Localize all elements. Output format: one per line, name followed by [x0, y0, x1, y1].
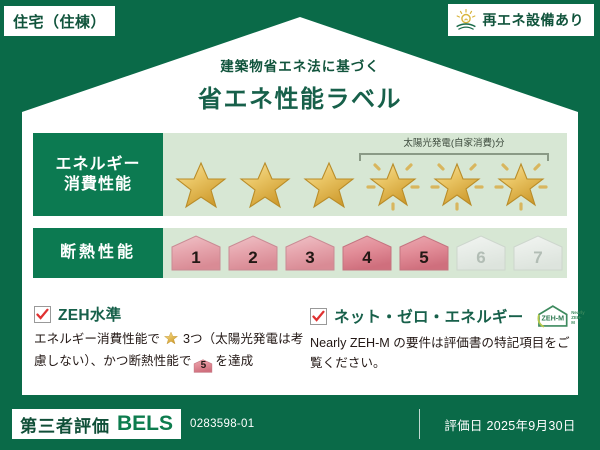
evaluation-date: 評価日 2025年9月30日 — [420, 415, 600, 434]
insulation-grade-7: 7 — [511, 233, 565, 273]
svg-text:ZEH-M: ZEH-M — [541, 314, 564, 322]
insulation-grade-1: 1 — [169, 233, 223, 273]
star-solar-6 — [489, 156, 553, 214]
insulation-grade-5: 5 — [397, 233, 451, 273]
solar-bracket-label: 太陽光発電(自家消費)分 — [349, 135, 559, 149]
energy-label-line1: エネルギー — [55, 155, 140, 175]
insulation-row: 断熱性能 — [33, 228, 567, 278]
bels-badge: 第三者評価 BELS — [12, 409, 181, 439]
building-type-label: 住宅（住棟） — [13, 11, 106, 32]
check-icon — [36, 308, 49, 321]
energy-consumption-row: エネルギー 消費性能 太陽光発電(自家消費)分 — [33, 133, 567, 216]
energy-label-line2: 消費性能 — [64, 175, 132, 195]
energy-consumption-label: エネルギー 消費性能 — [33, 133, 163, 216]
star-solid-3 — [297, 156, 361, 214]
star-solar-5 — [425, 156, 489, 214]
criteria-zeh-body: エネルギー消費性能で 3つ（太陽光発電は考慮しない）、かつ断熱性能で 5 を達成 — [34, 330, 309, 373]
zeh-body-part1: エネルギー消費性能で — [34, 332, 160, 346]
sun-icon — [454, 8, 478, 32]
insulation-grade-3: 3 — [283, 233, 337, 273]
check-icon — [312, 310, 325, 323]
zeh-m-badge: ZEH-M Nearly ZEH-M — [535, 303, 585, 329]
inline-star-icon — [164, 334, 182, 348]
inline-grade-badge: 5 — [193, 358, 213, 373]
third-party-label: 第三者評価 — [20, 412, 110, 437]
criteria-zeh-title: ZEH水準 — [58, 303, 122, 325]
star-solid-1 — [169, 156, 233, 214]
insulation-grade-2: 2 — [226, 233, 280, 273]
renewable-equipment-tag: 再エネ設備あり — [448, 4, 595, 36]
zeh-checkbox[interactable] — [34, 306, 51, 323]
star-solid-2 — [233, 156, 297, 214]
footer-divider — [419, 409, 420, 439]
nzeb-checkbox[interactable] — [310, 308, 327, 325]
insulation-label: 断熱性能 — [33, 228, 163, 278]
energy-rating-area: 太陽光発電(自家消費)分 — [163, 133, 567, 216]
title-block: 建築物省エネ法に基づく 省エネ性能ラベル — [0, 55, 600, 114]
zeh-m-badge-caption: Nearly ZEH-M — [571, 310, 585, 329]
criteria-nzeb-title: ネット・ゼロ・エネルギー — [334, 305, 524, 327]
criteria-nzeb-header: ネット・ゼロ・エネルギー ZEH-M Nearly ZEH-M — [310, 303, 575, 329]
bels-label: BELS — [117, 412, 173, 436]
footer: 第三者評価 BELS 0283598-01 評価日 2025年9月30日 — [0, 398, 600, 450]
certificate-number: 0283598-01 — [190, 418, 254, 430]
criteria-nzeb-body: Nearly ZEH-M の要件は評価書の特記項目をご覧ください。 — [310, 334, 575, 373]
insulation-label-text: 断熱性能 — [60, 243, 136, 263]
criteria-zeh-header: ZEH水準 — [34, 303, 309, 325]
star-rating — [163, 155, 567, 215]
zeh-m-house-icon: ZEH-M — [535, 303, 571, 329]
insulation-grade-list: 1 2 3 4 — [163, 228, 567, 278]
insulation-grade-6: 6 — [454, 233, 508, 273]
building-type-tag: 住宅（住棟） — [4, 6, 115, 36]
zeh-body-part3: を達成 — [215, 354, 253, 368]
title-subtitle: 建築物省エネ法に基づく — [0, 55, 600, 75]
star-solar-4 — [361, 156, 425, 214]
energy-performance-label: 住宅（住棟） 再エネ設備あり 建築物省エネ法に基づく 省エネ性能ラベル — [0, 0, 600, 450]
criteria-zeh-block: ZEH水準 エネルギー消費性能で 3つ（太陽光発電は考慮しない）、かつ断熱性能で… — [34, 303, 309, 373]
insulation-grade-area: 1 2 3 4 — [163, 228, 567, 278]
renewable-equipment-label: 再エネ設備あり — [483, 10, 585, 30]
insulation-grade-4: 4 — [340, 233, 394, 273]
page-title: 省エネ性能ラベル — [0, 79, 600, 114]
criteria-nzeb-block: ネット・ゼロ・エネルギー ZEH-M Nearly ZEH-M Nearly Z… — [310, 303, 575, 373]
